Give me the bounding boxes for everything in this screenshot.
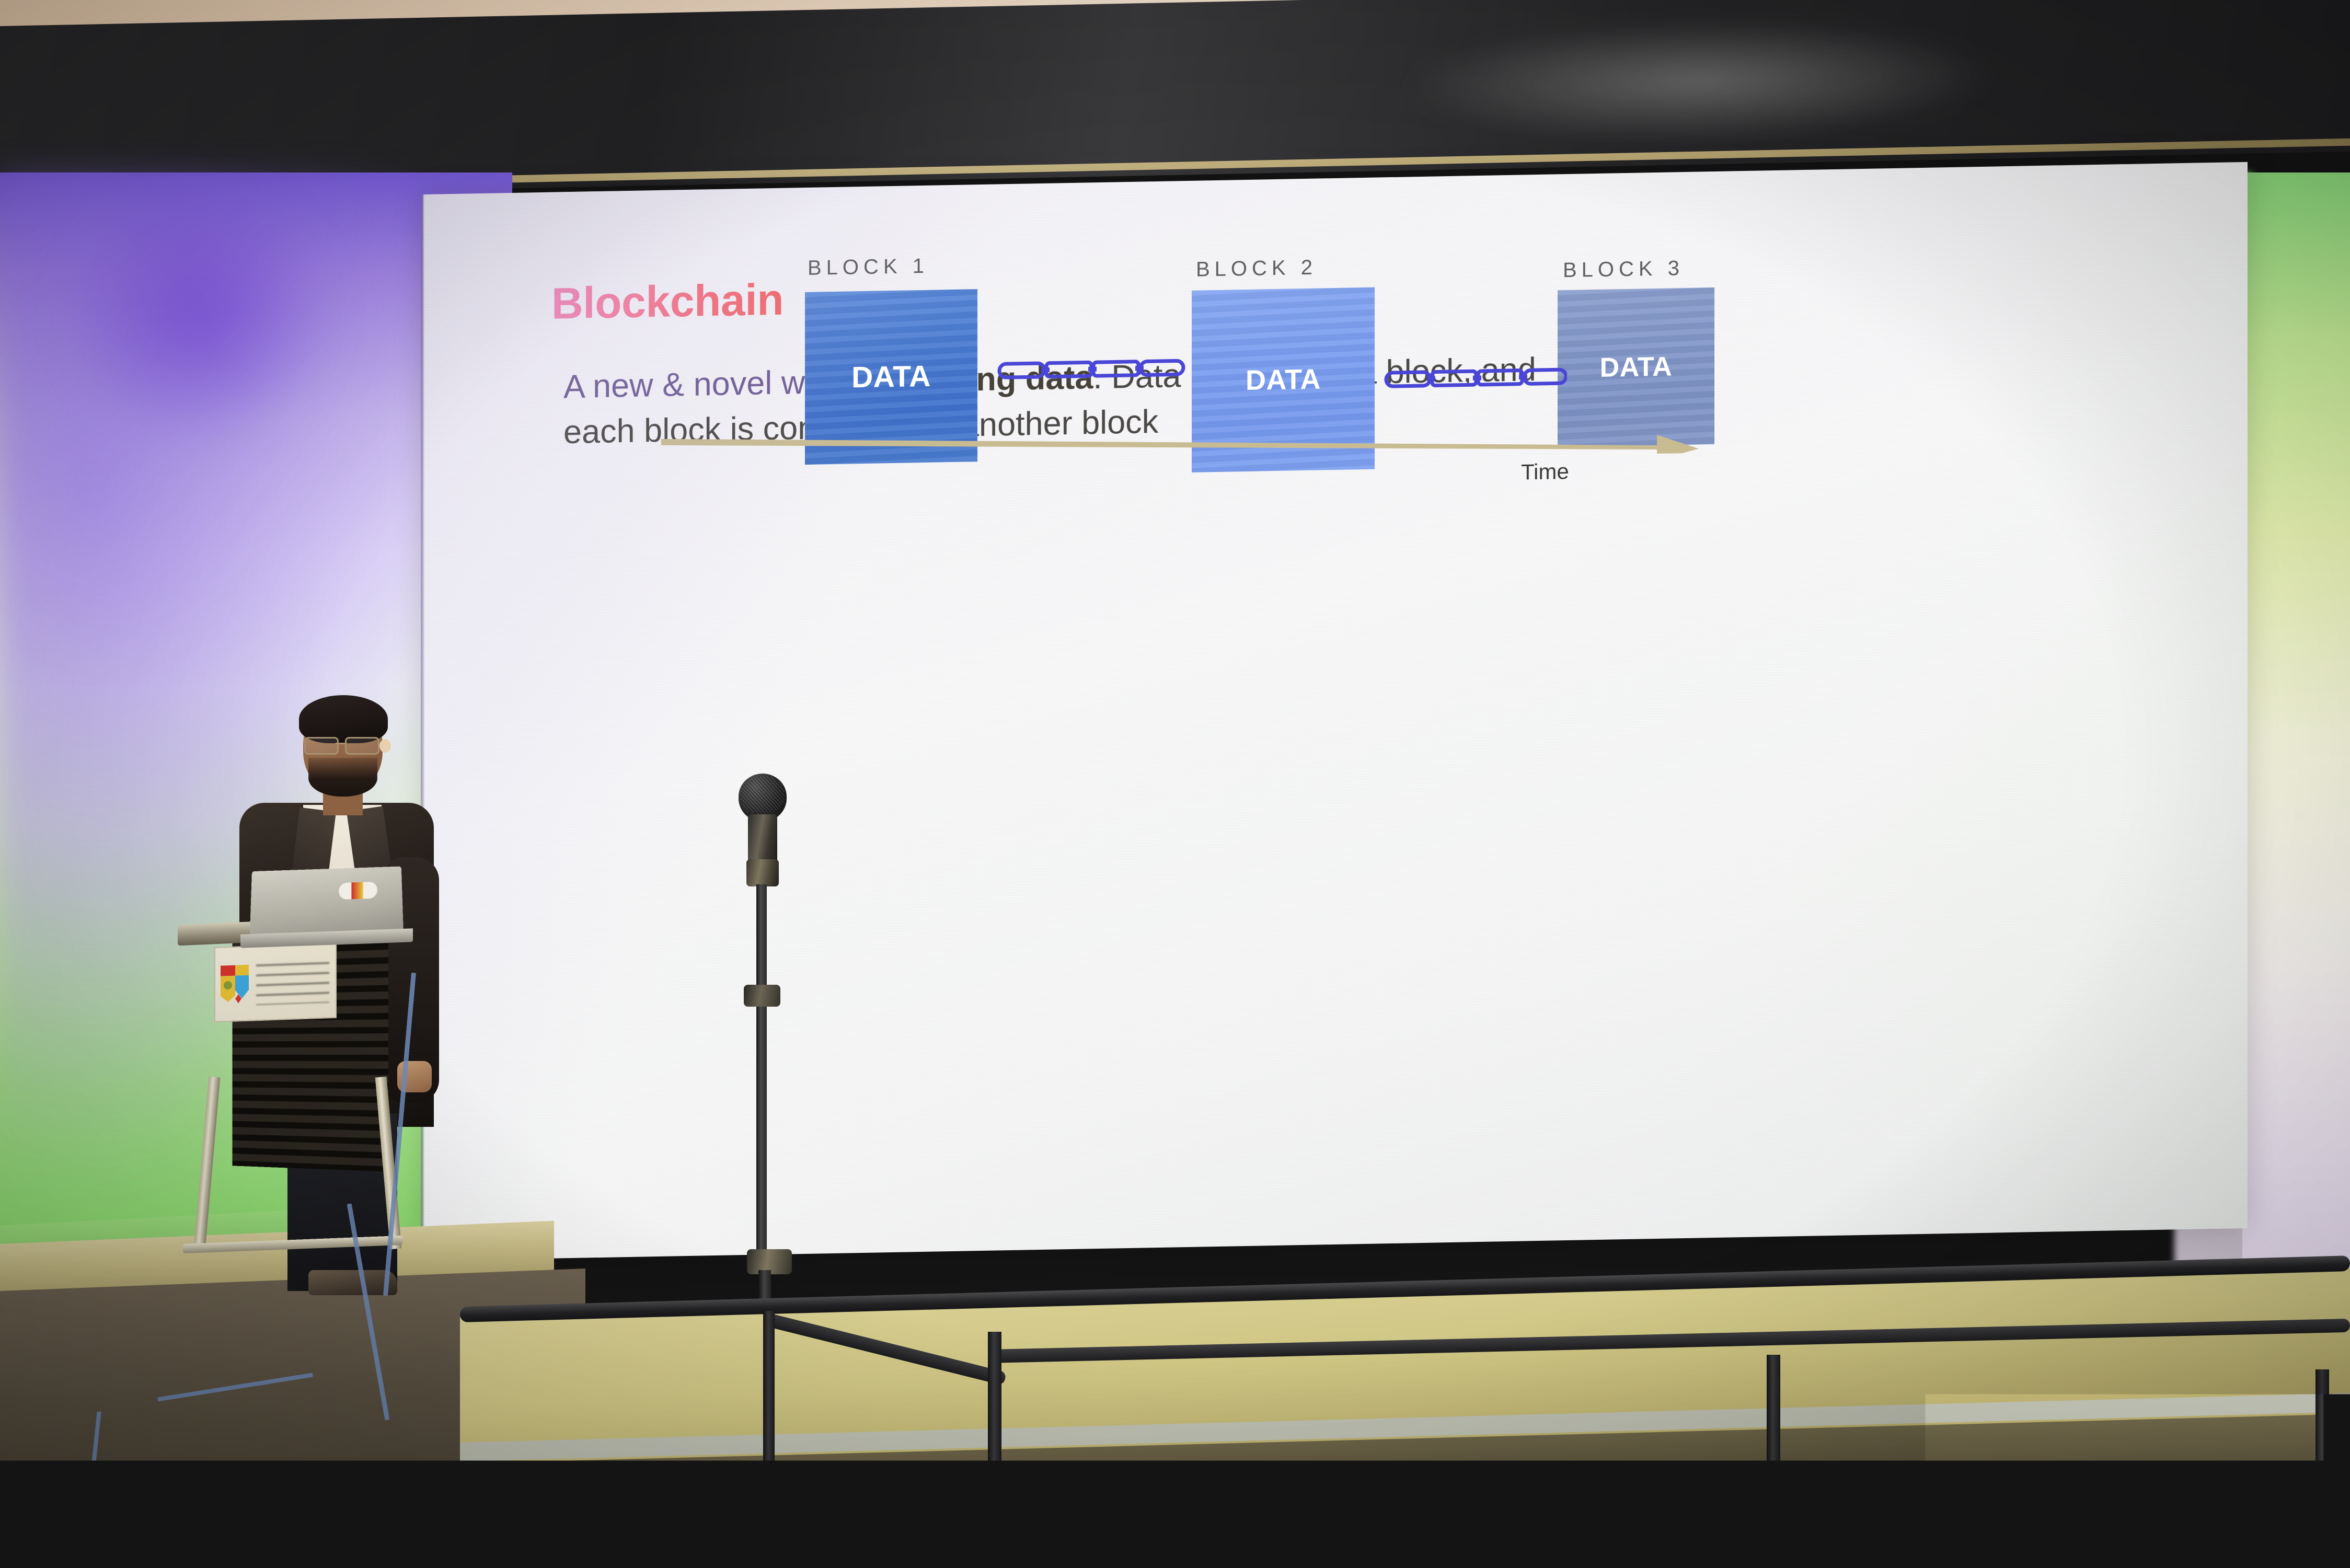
presenter-hair bbox=[299, 695, 388, 743]
lectern-plaque bbox=[214, 943, 337, 1022]
microphone-clamp bbox=[746, 859, 779, 886]
presentation-photo-scene: Blockchain A new & novel way for storing… bbox=[0, 0, 2350, 1568]
block-2-content: DATA bbox=[1246, 363, 1321, 397]
glasses-lens-right bbox=[345, 737, 379, 755]
lectern bbox=[246, 920, 413, 1265]
lectern-plaque-text bbox=[256, 962, 329, 1005]
microphone-pole-upper bbox=[756, 884, 767, 1250]
laptop-sticker bbox=[339, 882, 377, 900]
right-wall-lighting bbox=[2242, 172, 2350, 1375]
glasses-bridge bbox=[336, 743, 346, 744]
screen-scanlines bbox=[423, 162, 2248, 1261]
block-1-content: DATA bbox=[851, 359, 931, 395]
earpiece-microphone bbox=[379, 739, 391, 753]
microphone-adjust-knob-1 bbox=[744, 985, 780, 1007]
presenter-beard bbox=[308, 758, 377, 797]
ceiling-light-glow bbox=[1411, 15, 1986, 147]
block-3-content: DATA bbox=[1600, 351, 1673, 383]
microphone-body bbox=[748, 814, 777, 864]
foreground-shadow bbox=[0, 1505, 2350, 1568]
glasses-lens-left bbox=[304, 737, 339, 755]
projection-screen: Blockchain A new & novel way for storing… bbox=[423, 162, 2248, 1261]
institution-logo-icon bbox=[220, 964, 250, 1007]
presenter-laptop-lid bbox=[250, 867, 404, 938]
microphone-grille bbox=[741, 776, 785, 814]
purple-spotlight bbox=[63, 178, 335, 449]
glasses-icon bbox=[304, 737, 383, 752]
